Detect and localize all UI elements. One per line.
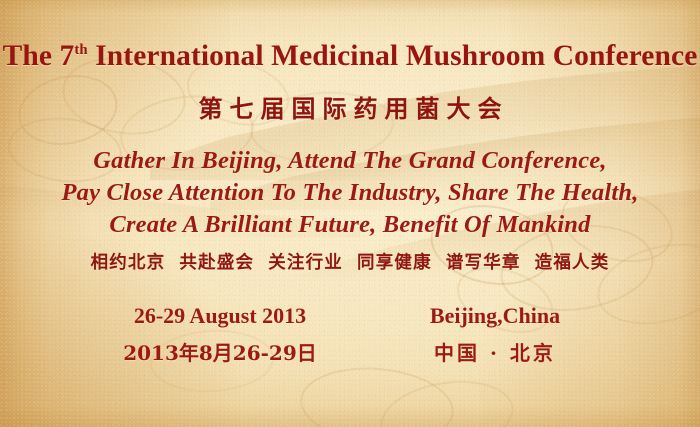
slogan-chinese: 相约北京共赴盛会关注行业同享健康谱写华章造福人类 — [0, 249, 700, 274]
slogan-chinese-group-6: 造福人类 — [535, 249, 610, 274]
slogan-english-line-2: Pay Close Attention To The Industry, Sha… — [0, 177, 700, 209]
slogan-english-line-3: Create A Brilliant Future, Benefit Of Ma… — [0, 209, 700, 241]
slogan-chinese-group-2: 共赴盛会 — [179, 249, 254, 274]
title-prefix: The 7 — [3, 40, 75, 72]
event-date-english: 26-29 August 2013 — [75, 303, 365, 329]
event-location-english: Beijing,China — [365, 303, 625, 329]
slogan-chinese-group-5: 谱写华章 — [446, 249, 521, 274]
event-details-chinese-row: 2013年8月26-29日 中国 · 北京 — [0, 337, 700, 366]
conference-poster: The 7th International Medicinal Mushroom… — [0, 0, 700, 427]
slogan-english-line-1: Gather In Beijing, Attend The Grand Conf… — [0, 145, 700, 177]
slogan-chinese-group-1: 相约北京 — [91, 249, 166, 274]
poster-content: The 7th International Medicinal Mushroom… — [0, 0, 700, 427]
event-details: 26-29 August 2013 Beijing,China 2013年8月2… — [0, 303, 700, 366]
conference-title-english: The 7th International Medicinal Mushroom… — [0, 40, 700, 73]
event-location-chinese: 中国 · 北京 — [365, 337, 625, 366]
event-details-english-row: 26-29 August 2013 Beijing,China — [0, 303, 700, 329]
slogan-chinese-group-3: 关注行业 — [268, 249, 343, 274]
slogan-chinese-group-4: 同享健康 — [357, 249, 432, 274]
slogan-english: Gather In Beijing, Attend The Grand Conf… — [0, 145, 700, 241]
title-ordinal-suffix: th — [74, 42, 87, 58]
event-date-chinese: 2013年8月26-29日 — [75, 337, 365, 366]
title-suffix: International Medicinal Mushroom Confere… — [88, 40, 698, 72]
conference-title-chinese: 第七届国际药用菌大会 — [0, 89, 700, 124]
